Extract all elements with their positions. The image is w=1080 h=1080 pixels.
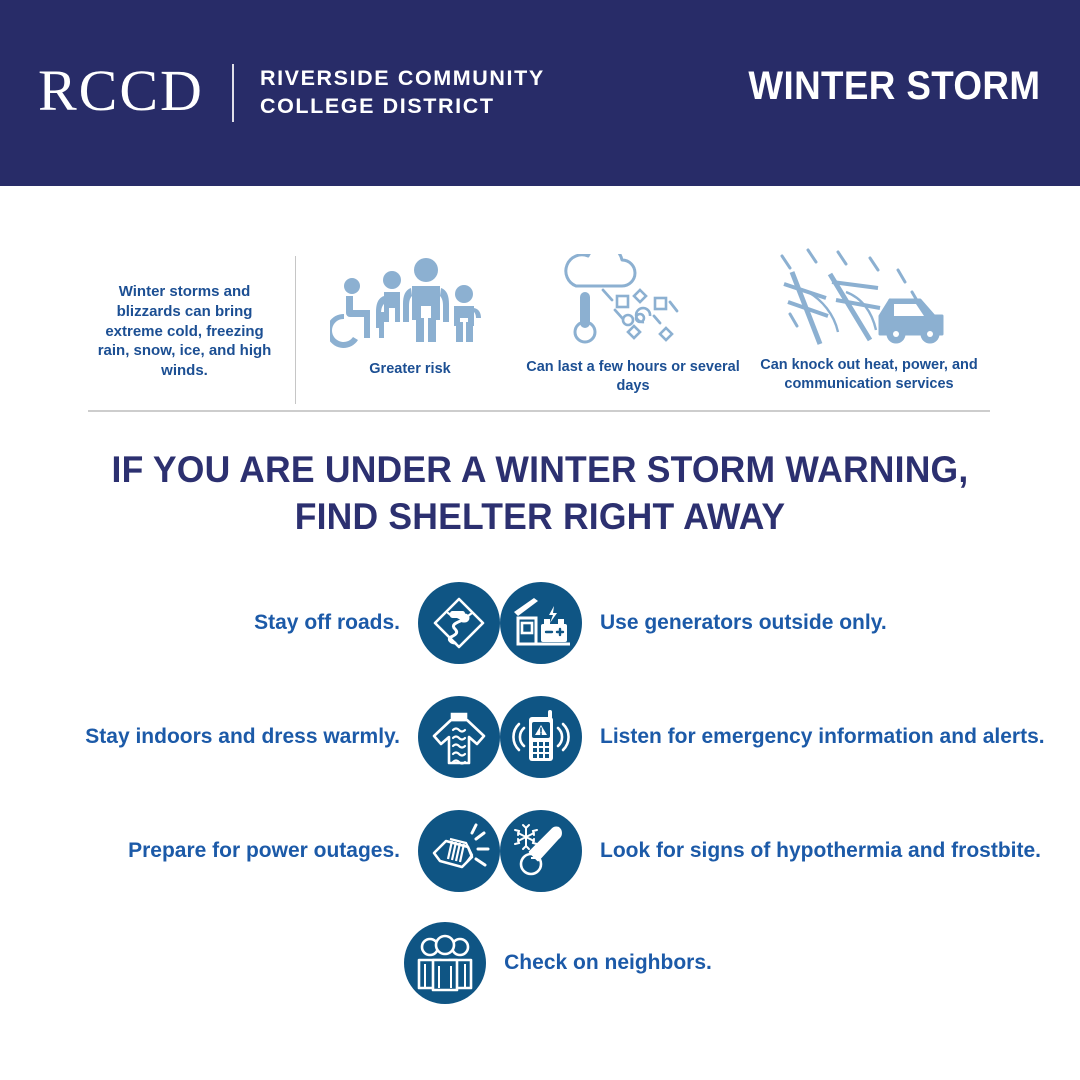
hazard-title: WINTER STORM xyxy=(748,64,1040,109)
info-cells: Greater risk xyxy=(296,250,990,396)
slippery-road-sign-icon xyxy=(418,582,500,664)
page-header: RCCD RIVERSIDE COMMUNITY COLLEGE DISTRIC… xyxy=(0,0,1080,186)
tips-row-2: Stay indoors and dress warmly. xyxy=(0,680,1080,794)
rccd-logo-mark: RCCD xyxy=(38,62,204,120)
info-item-duration: Can last a few hours or several days xyxy=(524,250,742,396)
tip-prepare-power-outages: Prepare for power outages. xyxy=(0,794,500,908)
downed-power-lines-car-icon xyxy=(774,252,964,348)
three-people-icon xyxy=(404,922,486,1004)
tip-hypothermia-frostbite: Look for signs of hypothermia and frostb… xyxy=(500,794,1080,908)
headline-line1: IF YOU ARE UNDER A WINTER STORM WARNING, xyxy=(22,446,1059,493)
house-generator-icon xyxy=(500,582,582,664)
brand-divider xyxy=(232,64,234,122)
tip-label-stay-off-roads: Stay off roads. xyxy=(254,609,400,636)
headline-line2: FIND SHELTER RIGHT AWAY xyxy=(22,493,1059,540)
tips-grid: Stay off roads. xyxy=(0,566,1080,1018)
tips-row-4: Check on neighbors. xyxy=(0,908,1080,1018)
info-blurb: Winter storms and blizzards can bring ex… xyxy=(88,250,281,381)
tip-use-generators-outside: Use generators outside only. xyxy=(500,566,1080,680)
flashlight-icon xyxy=(418,810,500,892)
tip-label-stay-indoors: Stay indoors and dress warmly. xyxy=(85,723,400,750)
tips-row-1: Stay off roads. xyxy=(0,566,1080,680)
tip-label-prepare-power-outages: Prepare for power outages. xyxy=(128,837,400,864)
tip-stay-off-roads: Stay off roads. xyxy=(0,566,500,680)
tip-label-hypothermia-frostbite: Look for signs of hypothermia and frostb… xyxy=(600,837,1041,864)
info-strip: Winter storms and blizzards can bring ex… xyxy=(88,250,990,412)
info-label-knock-out-services: Can knock out heat, power, and communica… xyxy=(748,356,990,394)
brand-wordmark: RIVERSIDE COMMUNITY COLLEGE DISTRICT xyxy=(260,65,545,120)
info-item-knock-out-services: Can knock out heat, power, and communica… xyxy=(748,250,990,394)
tips-row-3: Prepare for power outages. xyxy=(0,794,1080,908)
thermometer-snowflake-icon xyxy=(500,810,582,892)
infographic-page: RCCD RIVERSIDE COMMUNITY COLLEGE DISTRIC… xyxy=(0,0,1080,1080)
info-label-greater-risk: Greater risk xyxy=(369,360,450,379)
brand-name-line1: RIVERSIDE COMMUNITY xyxy=(260,65,545,93)
cloud-thermometer-snow-icon xyxy=(558,254,708,350)
emergency-phone-alert-icon xyxy=(500,696,582,778)
info-label-duration: Can last a few hours or several days xyxy=(524,358,742,396)
tip-listen-for-alerts: Listen for emergency information and ale… xyxy=(500,680,1080,794)
brand-lockup: RCCD RIVERSIDE COMMUNITY COLLEGE DISTRIC… xyxy=(38,64,545,122)
info-item-greater-risk: Greater risk xyxy=(296,250,524,379)
sweater-icon xyxy=(418,696,500,778)
tip-label-check-neighbors: Check on neighbors. xyxy=(504,949,712,976)
tip-label-use-generators-outside: Use generators outside only. xyxy=(600,609,887,636)
tip-stay-indoors: Stay indoors and dress warmly. xyxy=(0,680,500,794)
tip-label-listen-for-alerts: Listen for emergency information and ale… xyxy=(600,723,1045,750)
family-group-icon xyxy=(330,256,490,352)
page-title: IF YOU ARE UNDER A WINTER STORM WARNING,… xyxy=(22,446,1059,541)
brand-name-line2: COLLEGE DISTRICT xyxy=(260,93,545,121)
